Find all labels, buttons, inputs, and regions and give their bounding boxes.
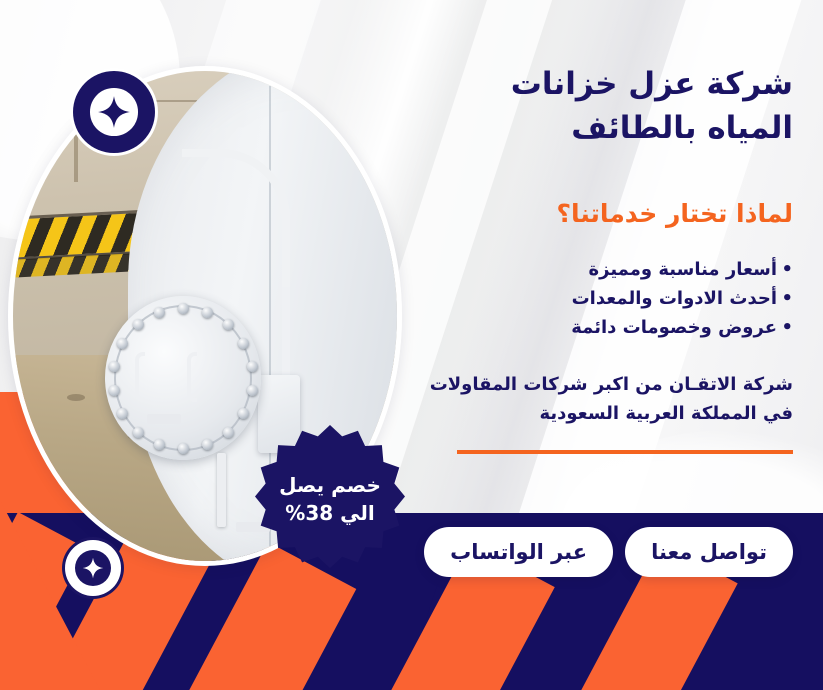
photo-tank-leg <box>217 453 226 527</box>
photo-hatch-handle-1 <box>135 352 145 402</box>
photo-hatch-bolt <box>117 338 128 349</box>
list-item: عروض وخصومات دائمة <box>423 313 793 342</box>
orange-divider <box>457 450 793 454</box>
logo-inner-disc-bottom <box>75 550 112 587</box>
photo-hatch-handle-2 <box>187 352 197 402</box>
promo-banner: خصم يصل الي 38% شركة عزل خزانات المياه ب… <box>0 0 823 690</box>
photo-hatch-bolt <box>178 303 189 314</box>
benefits-list: أسعار مناسبة ومميزة أحدث الادوات والمعدا… <box>423 255 793 342</box>
company-description: شركة الاتقـان من اكبر شركات المقاولات في… <box>423 370 793 428</box>
photo-hatch-bolt <box>238 338 249 349</box>
cta-button-row: تواصل معنا عبر الواتساب <box>424 527 793 577</box>
page-title: شركة عزل خزانات المياه بالطائف <box>423 62 793 150</box>
contact-us-button[interactable]: تواصل معنا <box>625 527 793 577</box>
discount-badge: خصم يصل الي 38% <box>255 425 405 575</box>
discount-badge-line-1: خصم يصل <box>279 472 381 500</box>
photo-hatch-bolt <box>238 408 249 419</box>
photo-hatch-bolt <box>223 427 234 438</box>
photo-hatch-bolt <box>202 439 213 450</box>
photo-hatch-bolt <box>109 361 120 372</box>
logo-outer-ring-bottom <box>65 540 121 596</box>
photo-hatch-bolt <box>154 307 165 318</box>
photo-hatch-bolt <box>247 385 258 396</box>
logo-outer-ring <box>73 71 155 153</box>
brand-logo-bottom <box>62 537 124 599</box>
photo-hatch-bolt <box>247 361 258 372</box>
logo-inner-disc <box>90 88 138 136</box>
photo-tank-hatch <box>105 296 261 460</box>
discount-badge-text: خصم يصل الي 38% <box>263 472 397 527</box>
section-subtitle: لماذا تختار خدماتنا؟ <box>423 198 793 231</box>
photo-hatch-bolt <box>117 408 128 419</box>
photo-hatch-bolt <box>223 319 234 330</box>
list-item: أحدث الادوات والمعدات <box>423 284 793 313</box>
brand-logo-top <box>70 68 158 156</box>
photo-hatch-bolt <box>133 427 144 438</box>
photo-tank-foot-1 <box>147 414 181 424</box>
photo-hatch-bolt <box>178 443 189 454</box>
discount-badge-line-2: الي 38% <box>279 500 381 528</box>
list-item: أسعار مناسبة ومميزة <box>423 255 793 284</box>
photo-hatch-bolt <box>154 439 165 450</box>
photo-hatch-bolt <box>133 319 144 330</box>
photo-hatch-bolt <box>202 307 213 318</box>
content-column: شركة عزل خزانات المياه بالطائف لماذا تخت… <box>423 62 793 454</box>
sparkle-star-icon <box>82 557 104 579</box>
photo-hatch-bolt <box>109 385 120 396</box>
sparkle-star-icon <box>97 95 131 129</box>
whatsapp-button[interactable]: عبر الواتساب <box>424 527 613 577</box>
